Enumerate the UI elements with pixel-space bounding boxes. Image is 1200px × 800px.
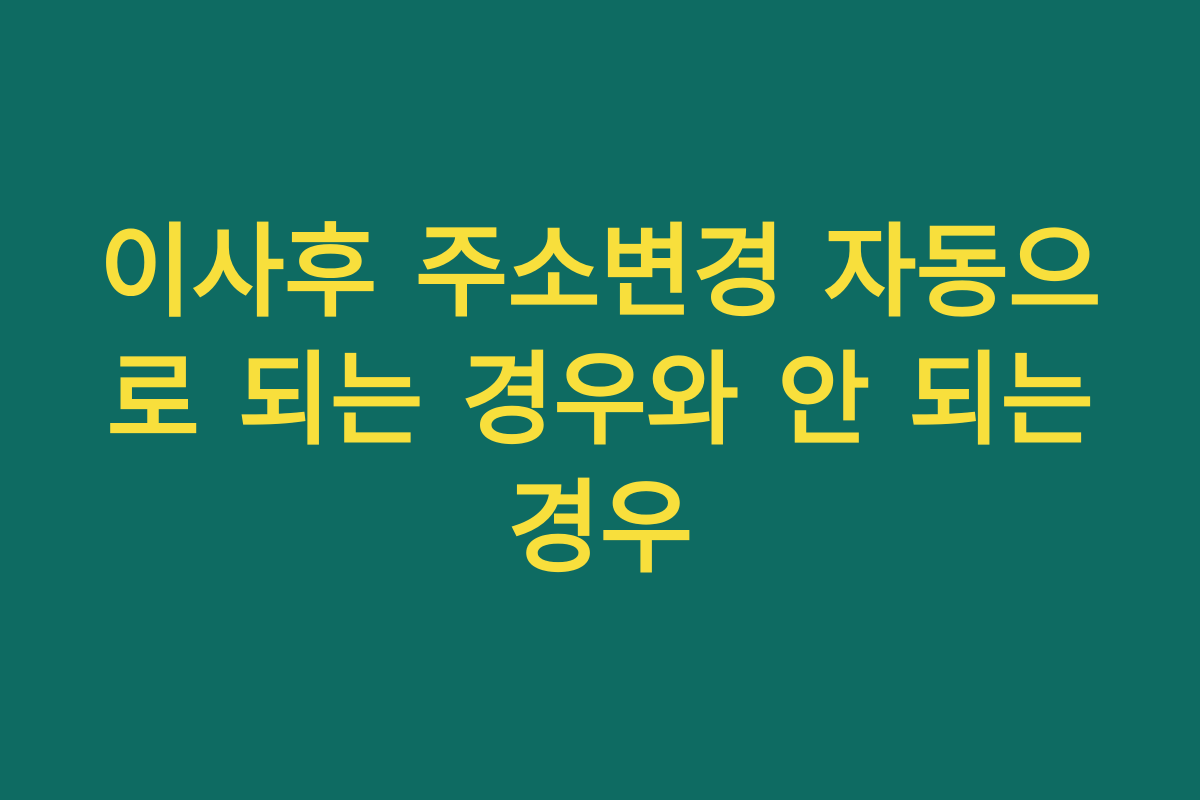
banner-headline: 이사후 주소변경 자동으로 되는 경우와 안 되는 경우 — [95, 208, 1105, 592]
text-banner: 이사후 주소변경 자동으로 되는 경우와 안 되는 경우 — [0, 0, 1200, 800]
